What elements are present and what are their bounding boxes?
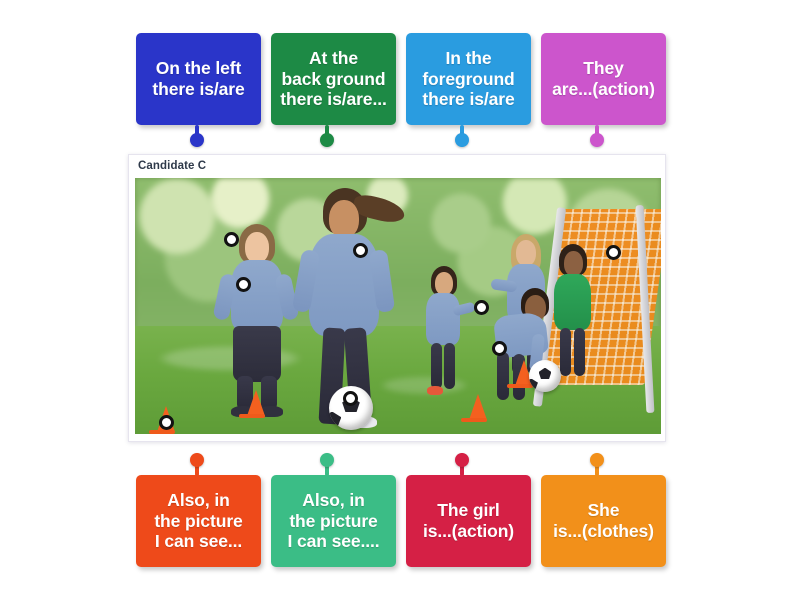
pin-knob	[320, 453, 334, 467]
pin-knob	[455, 453, 469, 467]
label-card-she-is-clothes[interactable]: She is...(clothes)	[541, 475, 666, 567]
pin-knob	[455, 133, 469, 147]
label-card-the-girl-is-action[interactable]: The girl is...(action)	[406, 475, 531, 567]
photo-cone-2	[247, 390, 265, 416]
label-pin-on-the-left	[190, 125, 204, 147]
label-card-on-the-left[interactable]: On the left there is/are	[136, 33, 261, 125]
pin-knob	[320, 133, 334, 147]
label-text: In the foreground there is/are	[413, 48, 524, 110]
drop-target-marker[interactable]	[159, 415, 174, 430]
label-text: Also, in the picture I can see...	[143, 490, 254, 552]
drop-target-marker[interactable]	[343, 391, 358, 406]
drop-target-marker[interactable]	[224, 232, 239, 247]
pin-knob	[590, 453, 604, 467]
picture-card: Candidate C	[128, 154, 666, 442]
picture-caption: Candidate C	[138, 160, 206, 172]
photo-coach-standing	[219, 226, 295, 412]
photo-cone-3-base	[461, 418, 487, 422]
label-card-they-are-action[interactable]: They are...(action)	[541, 33, 666, 125]
label-pin-the-girl-is-action	[455, 453, 469, 476]
label-text: The girl is...(action)	[413, 500, 524, 541]
photo-player-small-left	[423, 268, 463, 388]
label-card-foreground[interactable]: In the foreground there is/are	[406, 33, 531, 125]
label-card-also-picture-2[interactable]: Also, in the picture I can see....	[271, 475, 396, 567]
label-card-also-picture-1[interactable]: Also, in the picture I can see...	[136, 475, 261, 567]
label-text: At the back ground there is/are...	[278, 48, 389, 110]
drop-target-marker[interactable]	[353, 243, 368, 258]
label-text: Also, in the picture I can see....	[278, 490, 389, 552]
label-pin-she-is-clothes	[590, 453, 604, 476]
pin-knob	[190, 133, 204, 147]
activity-canvas: On the left there is/are At the back gro…	[0, 0, 800, 600]
pin-knob	[590, 133, 604, 147]
label-pin-background	[320, 125, 334, 147]
label-text: They are...(action)	[548, 58, 659, 99]
drop-target-marker[interactable]	[492, 341, 507, 356]
label-pin-they-are-action	[590, 125, 604, 147]
soccer-photo	[135, 178, 661, 434]
label-pin-also-picture-2	[320, 453, 334, 476]
drop-target-marker[interactable]	[474, 300, 489, 315]
label-pin-also-picture-1	[190, 453, 204, 476]
label-text: On the left there is/are	[143, 58, 254, 99]
drop-target-marker[interactable]	[606, 245, 621, 260]
label-card-background[interactable]: At the back ground there is/are...	[271, 33, 396, 125]
label-pin-foreground	[455, 125, 469, 147]
drop-target-marker[interactable]	[236, 277, 251, 292]
photo-cone-1-base	[149, 430, 175, 434]
photo-cone-3	[469, 394, 487, 420]
label-text: She is...(clothes)	[548, 500, 659, 541]
photo-cone-2-base	[239, 414, 265, 418]
photo-soccer-ball-back	[529, 360, 561, 392]
pin-knob	[190, 453, 204, 467]
